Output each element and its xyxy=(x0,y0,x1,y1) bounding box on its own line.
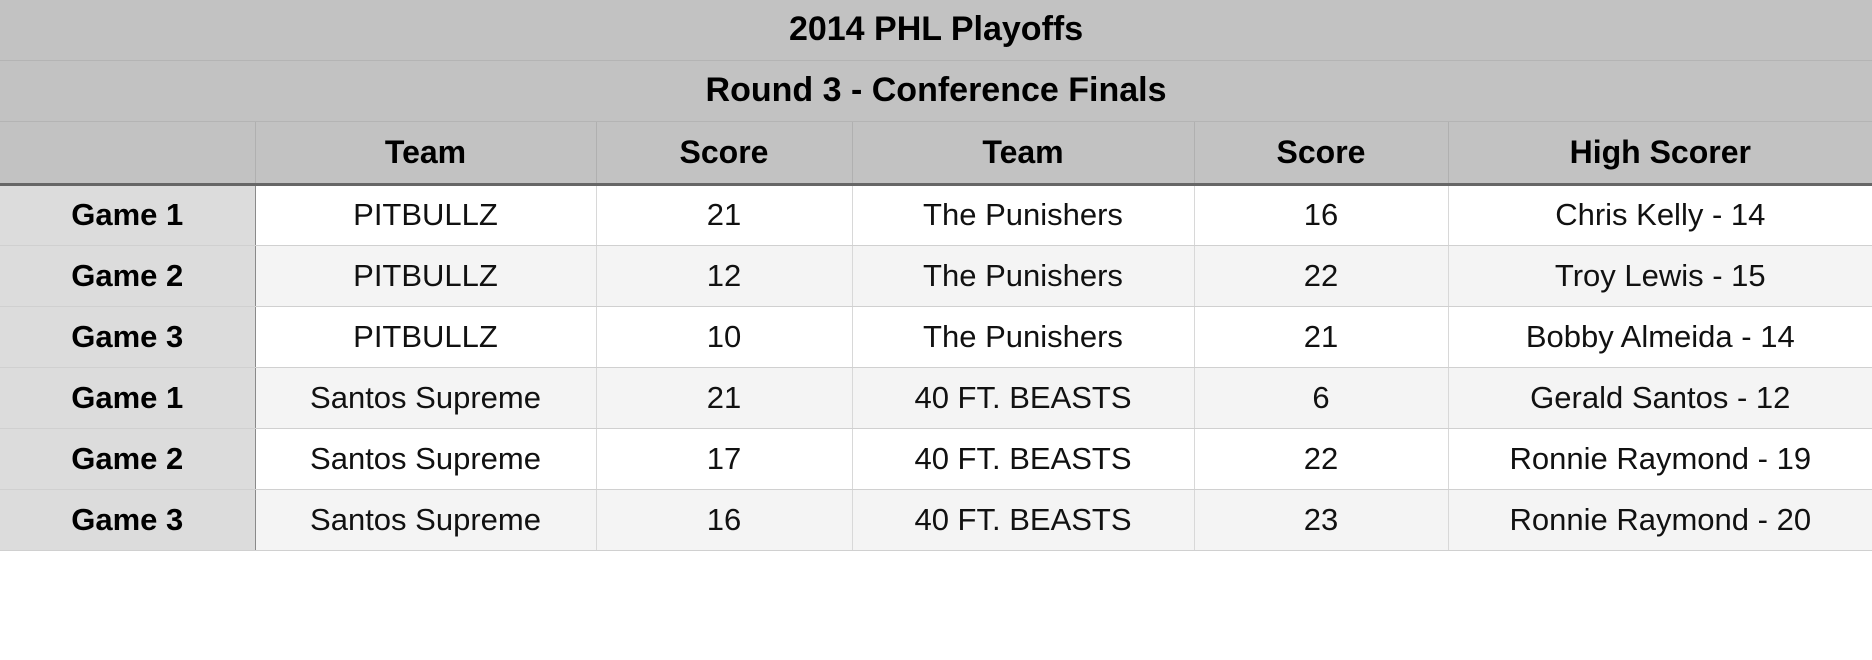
cell-score-left: 10 xyxy=(596,306,852,367)
table-row: Game 2PITBULLZ12The Punishers22Troy Lewi… xyxy=(0,245,1872,306)
cell-team-right: 40 FT. BEASTS xyxy=(852,489,1194,550)
cell-high-scorer: Gerald Santos - 12 xyxy=(1448,367,1872,428)
cell-high-scorer: Bobby Almeida - 14 xyxy=(1448,306,1872,367)
cell-game: Game 2 xyxy=(0,428,255,489)
playoff-results-table: 2014 PHL Playoffs Round 3 - Conference F… xyxy=(0,0,1872,551)
table-row: Game 3PITBULLZ10The Punishers21Bobby Alm… xyxy=(0,306,1872,367)
page-subtitle: Round 3 - Conference Finals xyxy=(0,60,1872,121)
cell-team-right: The Punishers xyxy=(852,184,1194,245)
cell-team-left: Santos Supreme xyxy=(255,428,596,489)
cell-score-left: 16 xyxy=(596,489,852,550)
column-header-score-right: Score xyxy=(1194,121,1448,184)
cell-score-right: 21 xyxy=(1194,306,1448,367)
table-body: Game 1PITBULLZ21The Punishers16Chris Kel… xyxy=(0,184,1872,550)
cell-game: Game 3 xyxy=(0,489,255,550)
cell-score-right: 22 xyxy=(1194,245,1448,306)
cell-high-scorer: Chris Kelly - 14 xyxy=(1448,184,1872,245)
page-title: 2014 PHL Playoffs xyxy=(0,0,1872,60)
cell-score-right: 22 xyxy=(1194,428,1448,489)
cell-score-right: 23 xyxy=(1194,489,1448,550)
column-header-high-scorer: High Scorer xyxy=(1448,121,1872,184)
column-header-score-left: Score xyxy=(596,121,852,184)
column-header-team-right: Team xyxy=(852,121,1194,184)
column-header-team-left: Team xyxy=(255,121,596,184)
cell-score-left: 21 xyxy=(596,367,852,428)
playoff-results-table-container: 2014 PHL Playoffs Round 3 - Conference F… xyxy=(0,0,1872,660)
cell-team-right: 40 FT. BEASTS xyxy=(852,367,1194,428)
cell-team-right: 40 FT. BEASTS xyxy=(852,428,1194,489)
cell-game: Game 1 xyxy=(0,367,255,428)
cell-score-left: 17 xyxy=(596,428,852,489)
cell-score-left: 21 xyxy=(596,184,852,245)
table-row: Game 2Santos Supreme1740 FT. BEASTS22Ron… xyxy=(0,428,1872,489)
table-row: Game 1Santos Supreme2140 FT. BEASTS6Gera… xyxy=(0,367,1872,428)
cell-score-right: 6 xyxy=(1194,367,1448,428)
cell-high-scorer: Ronnie Raymond - 19 xyxy=(1448,428,1872,489)
column-header-row: Team Score Team Score High Scorer xyxy=(0,121,1872,184)
cell-game: Game 2 xyxy=(0,245,255,306)
table-subtitle-row: Round 3 - Conference Finals xyxy=(0,60,1872,121)
column-header-game xyxy=(0,121,255,184)
cell-team-left: PITBULLZ xyxy=(255,306,596,367)
table-header: 2014 PHL Playoffs Round 3 - Conference F… xyxy=(0,0,1872,184)
cell-team-left: Santos Supreme xyxy=(255,489,596,550)
cell-team-right: The Punishers xyxy=(852,245,1194,306)
cell-game: Game 1 xyxy=(0,184,255,245)
cell-score-left: 12 xyxy=(596,245,852,306)
cell-team-right: The Punishers xyxy=(852,306,1194,367)
cell-team-left: PITBULLZ xyxy=(255,184,596,245)
cell-score-right: 16 xyxy=(1194,184,1448,245)
cell-team-left: Santos Supreme xyxy=(255,367,596,428)
table-row: Game 3Santos Supreme1640 FT. BEASTS23Ron… xyxy=(0,489,1872,550)
table-title-row: 2014 PHL Playoffs xyxy=(0,0,1872,60)
cell-team-left: PITBULLZ xyxy=(255,245,596,306)
cell-game: Game 3 xyxy=(0,306,255,367)
table-row: Game 1PITBULLZ21The Punishers16Chris Kel… xyxy=(0,184,1872,245)
cell-high-scorer: Troy Lewis - 15 xyxy=(1448,245,1872,306)
cell-high-scorer: Ronnie Raymond - 20 xyxy=(1448,489,1872,550)
